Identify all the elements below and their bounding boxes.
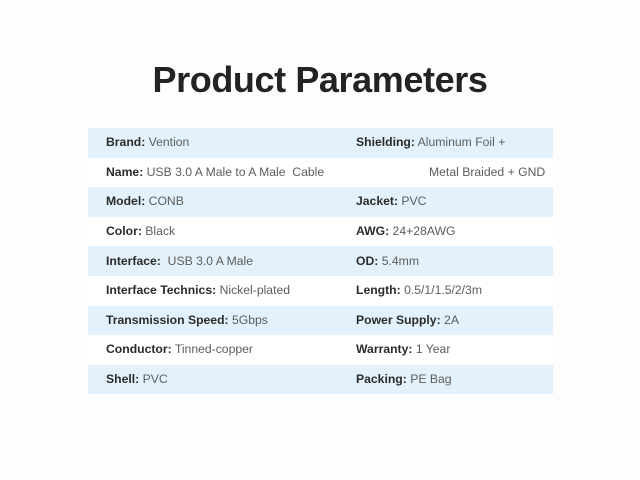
spec-cell-right: Warranty: 1 Year	[340, 342, 553, 357]
spec-label: Power Supply:	[356, 313, 441, 328]
table-row: Name: USB 3.0 A Male to A Male CableMeta…	[88, 158, 553, 188]
spec-cell-right: Length: 0.5/1/1.5/2/3m	[340, 283, 553, 298]
spec-cell-right: OD: 5.4mm	[340, 254, 553, 269]
spec-value: Nickel-plated	[216, 283, 290, 298]
table-row: Interface Technics: Nickel-platedLength:…	[88, 276, 553, 306]
spec-value: Vention	[145, 135, 189, 150]
table-row: Model: CONBJacket: PVC	[88, 187, 553, 217]
table-row: Interface: USB 3.0 A MaleOD: 5.4mm	[88, 246, 553, 276]
spec-value: Black	[142, 224, 175, 239]
spec-label: Transmission Speed:	[106, 313, 229, 328]
spec-cell-right: AWG: 24+28AWG	[340, 224, 553, 239]
spec-value: USB 3.0 A Male to A Male Cable	[143, 165, 324, 180]
spec-label: Jacket:	[356, 194, 398, 209]
spec-cell-left: Interface Technics: Nickel-plated	[88, 283, 340, 298]
table-row: Shell: PVCPacking: PE Bag	[88, 365, 553, 395]
spec-value: USB 3.0 A Male	[161, 254, 253, 269]
spec-label: Shielding:	[356, 135, 415, 150]
spec-value: 24+28AWG	[389, 224, 455, 239]
spec-label: Packing:	[356, 372, 407, 387]
spec-cell-right: Packing: PE Bag	[340, 372, 553, 387]
spec-label: Shell:	[106, 372, 139, 387]
spec-cell-left: Brand: Vention	[88, 135, 340, 150]
spec-label: Length:	[356, 283, 401, 298]
spec-label: AWG:	[356, 224, 389, 239]
table-row: Color: BlackAWG: 24+28AWG	[88, 217, 553, 247]
spec-cell-left: Transmission Speed: 5Gbps	[88, 313, 340, 328]
spec-cell-left: Model: CONB	[88, 194, 340, 209]
spec-value: PVC	[398, 194, 426, 209]
spec-cell-left: Conductor: Tinned-copper	[88, 342, 340, 357]
spec-cell-right: Shielding: Aluminum Foil +	[340, 135, 553, 150]
page-title: Product Parameters	[0, 58, 640, 102]
table-row: Brand: VentionShielding: Aluminum Foil +	[88, 128, 553, 158]
spec-label: Model:	[106, 194, 145, 209]
spec-cell-right: Metal Braided + GND	[340, 165, 553, 180]
spec-cell-left: Shell: PVC	[88, 372, 340, 387]
spec-value: 0.5/1/1.5/2/3m	[401, 283, 482, 298]
table-row: Conductor: Tinned-copperWarranty: 1 Year	[88, 335, 553, 365]
spec-cell-left: Interface: USB 3.0 A Male	[88, 254, 340, 269]
spec-value: 5.4mm	[378, 254, 419, 269]
spec-value: CONB	[145, 194, 184, 209]
table-row: Transmission Speed: 5GbpsPower Supply: 2…	[88, 306, 553, 336]
spec-label: Name:	[106, 165, 143, 180]
spec-value: Metal Braided + GND	[429, 165, 545, 180]
specification-table: Brand: VentionShielding: Aluminum Foil +…	[88, 128, 553, 394]
spec-value: PE Bag	[407, 372, 452, 387]
spec-cell-left: Name: USB 3.0 A Male to A Male Cable	[88, 165, 340, 180]
spec-value: 5Gbps	[229, 313, 268, 328]
spec-value: Aluminum Foil +	[415, 135, 505, 150]
spec-value: Tinned-copper	[172, 342, 253, 357]
spec-label: Color:	[106, 224, 142, 239]
spec-cell-right: Jacket: PVC	[340, 194, 553, 209]
spec-label: Interface Technics:	[106, 283, 216, 298]
spec-value: PVC	[139, 372, 167, 387]
spec-cell-right: Power Supply: 2A	[340, 313, 553, 328]
spec-label: Warranty:	[356, 342, 412, 357]
spec-cell-left: Color: Black	[88, 224, 340, 239]
spec-value: 2A	[441, 313, 459, 328]
spec-label: Conductor:	[106, 342, 172, 357]
spec-label: Interface:	[106, 254, 161, 269]
spec-label: Brand:	[106, 135, 145, 150]
spec-value: 1 Year	[412, 342, 450, 357]
product-parameters-page: Product Parameters Brand: VentionShieldi…	[0, 0, 640, 480]
spec-label: OD:	[356, 254, 378, 269]
